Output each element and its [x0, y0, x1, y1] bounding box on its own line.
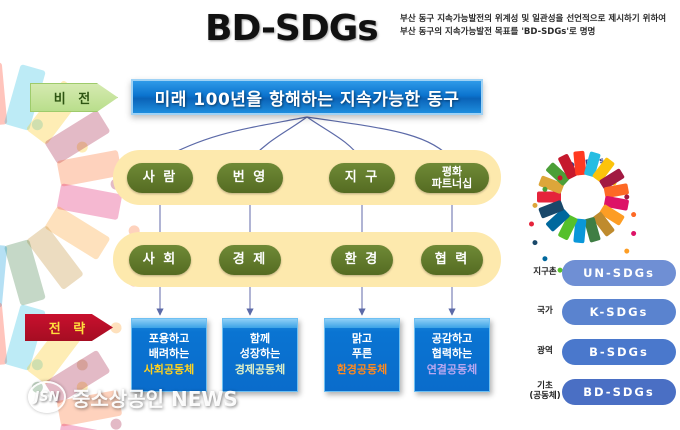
domain-economy[interactable]: 경 제 — [219, 245, 281, 275]
page-title: BD-SDGs — [205, 8, 378, 49]
strategy-box-environment-highlight: 환경공동체 — [337, 363, 388, 378]
strategy-box-environment-line-2: 푸른 — [352, 347, 372, 362]
legend-scope-bd: 기초 (공동체) — [528, 382, 562, 402]
strategy-box-economy-line-2: 성장하는 — [240, 347, 280, 362]
sdg-color-wheel-icon: BD-SDGs — [529, 121, 637, 229]
page-subtitle: 부산 동구 지속가능발전의 위계성 및 일관성을 선언적으로 제시하기 위하여 … — [400, 13, 678, 39]
legend-label-b: B-SDGs — [562, 339, 676, 365]
jsn-watermark: JSN 중소상공인 NEWS — [28, 381, 238, 413]
strategy-box-connection-highlight: 연결공동체 — [427, 363, 478, 378]
sdg-wheel-dot — [631, 231, 637, 237]
sdg-wheel-dot — [75, 139, 90, 154]
strategy-box-society-highlight: 사회공동체 — [144, 363, 195, 378]
vision-banner: 미래 100년을 항해하는 지속가능한 동구 — [131, 79, 483, 115]
pillar-peace-partnership[interactable]: 평화 파트너십 — [415, 163, 489, 193]
legend-scope-b: 광역 — [528, 347, 562, 357]
sdg-wheel-segment — [4, 239, 46, 306]
legend-row-un[interactable]: 지구촌 UN-SDGs — [528, 258, 676, 288]
sdg-wheel-segment — [26, 225, 84, 290]
sdg-wheel-segment — [57, 423, 123, 430]
subtitle-line-2: 부산 동구의 지속가능발전 목표를 'BD-SDGs'로 명명 — [400, 26, 678, 39]
pillar-planet[interactable]: 지 구 — [329, 163, 395, 193]
legend-row-bd[interactable]: 기초 (공동체) BD-SDGs — [528, 377, 676, 407]
strategy-box-economy-highlight: 경제공동체 — [235, 363, 286, 378]
sdg-wheel-segment — [0, 62, 7, 126]
sdg-wheel-segment — [0, 302, 7, 366]
strategy-chevron-label: 전 략 — [25, 314, 113, 341]
sdg-wheel-dot — [532, 239, 538, 245]
sdg-wheel-dot — [31, 358, 45, 372]
sdg-wheel-segment — [44, 110, 110, 165]
strategy-box-connection-line-1: 공감하고 — [432, 332, 472, 347]
pillar-people[interactable]: 사 람 — [127, 163, 193, 193]
sdg-wheel-dot — [631, 212, 637, 218]
domain-society[interactable]: 사 회 — [129, 245, 191, 275]
sdg-wheel-segment — [44, 206, 110, 261]
legend-label-k: K-SDGs — [562, 299, 676, 325]
strategy-box-society-line-2: 배려하는 — [149, 347, 189, 362]
legend-scope-un: 지구촌 — [528, 268, 562, 278]
sdg-wheel-dot — [529, 222, 534, 227]
sdg-wheel-dot — [75, 357, 90, 372]
strategy-box-connection[interactable]: 공감하고 협력하는 연결공동체 — [414, 318, 490, 392]
strategy-box-environment[interactable]: 맑고 푸른 환경공동체 — [324, 318, 400, 392]
sdg-wheel-dot — [108, 417, 123, 430]
strategy-box-connection-line-2: 협력하는 — [432, 347, 472, 362]
jsn-logo-icon: JSN — [28, 381, 66, 413]
pillar-peace-partnership-line-2: 파트너십 — [432, 178, 472, 190]
legend-row-b[interactable]: 광역 B-SDGs — [528, 337, 676, 367]
sdg-wheel-segment — [57, 183, 123, 220]
subtitle-line-1: 부산 동구 지속가능발전의 위계성 및 일관성을 선언적으로 제시하기 위하여 — [400, 13, 678, 26]
sdg-wheel-segment — [0, 244, 7, 308]
strategy-box-economy-line-1: 함께 — [250, 332, 270, 347]
infographic-canvas: BD-SDGs 부산 동구 지속가능발전의 위계성 및 일관성을 선언적으로 제… — [0, 0, 680, 430]
jsn-watermark-text: 중소상공인 NEWS — [72, 383, 238, 412]
sdg-wheel-dot — [623, 248, 630, 255]
sdg-wheel-dot — [532, 202, 538, 208]
domain-environment[interactable]: 환 경 — [331, 245, 393, 275]
legend-label-bd: BD-SDGs — [562, 379, 676, 405]
domain-cooperation[interactable]: 협 력 — [421, 245, 483, 275]
strategy-box-environment-line-1: 맑고 — [352, 332, 372, 347]
legend-row-k[interactable]: 국가 K-SDGs — [528, 297, 676, 327]
legend-scope-k: 국가 — [528, 307, 562, 317]
strategy-box-society-line-1: 포용하고 — [149, 332, 189, 347]
legend-label-un: UN-SDGs — [562, 260, 676, 286]
pillar-prosperity[interactable]: 번 영 — [217, 163, 283, 193]
vision-chevron-label: 비 전 — [30, 83, 118, 112]
sdg-wheel-dot — [31, 118, 45, 132]
legend-scope-bd-line-2: (공동체) — [528, 392, 562, 402]
